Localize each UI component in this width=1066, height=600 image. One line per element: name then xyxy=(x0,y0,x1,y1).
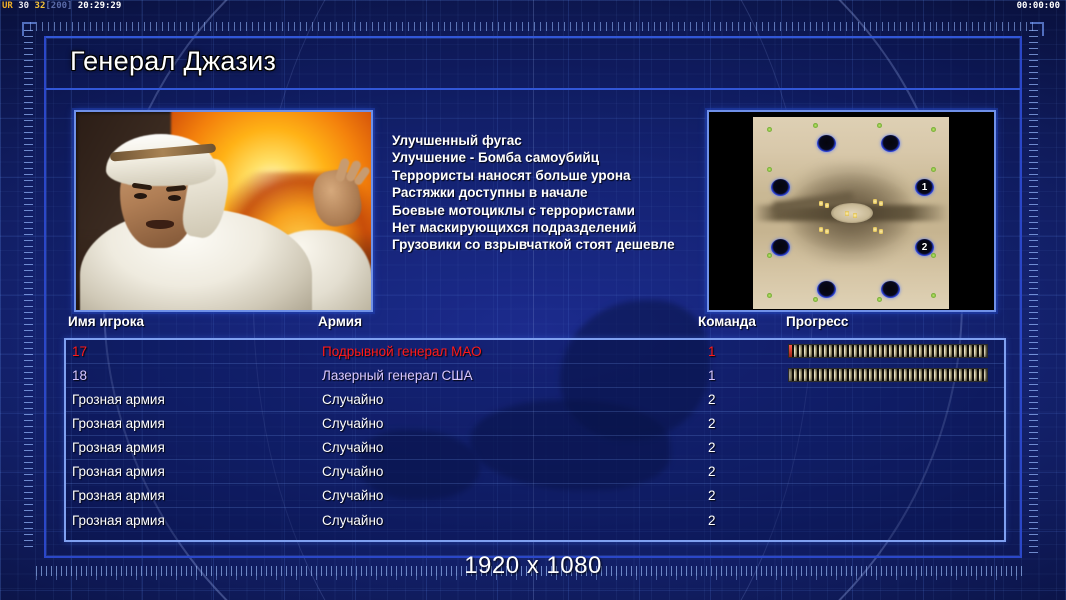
description-line: Улучшенный фугас xyxy=(392,132,722,149)
map-tech-building xyxy=(819,201,823,206)
table-row[interactable]: Грозная армияСлучайно2 xyxy=(66,484,1004,508)
player-table-header: Имя игрока Армия Команда Прогресс xyxy=(46,314,1024,336)
frame-corner-right xyxy=(1030,22,1044,36)
cell-army: Случайно xyxy=(322,488,383,503)
map-tech-building xyxy=(825,203,829,208)
game-menu-screen: UR 30 32[200] 20:29:29 00:00:00 Генерал … xyxy=(0,0,1066,600)
map-tech-building xyxy=(825,229,829,234)
cell-player-name: Грозная армия xyxy=(72,464,165,479)
cell-team: 2 xyxy=(708,440,716,455)
cell-team: 2 xyxy=(708,392,716,407)
progress-bar-fill xyxy=(789,369,987,381)
table-row[interactable]: 17Подрывной генерал МАО1 xyxy=(66,340,1004,364)
map-start-position[interactable] xyxy=(881,135,900,152)
cell-player-name: Грозная армия xyxy=(72,513,165,528)
map-start-position[interactable] xyxy=(817,281,836,298)
portrait-eye-right xyxy=(168,195,181,201)
cell-army: Случайно xyxy=(322,440,383,455)
cell-player-name: Грозная армия xyxy=(72,392,165,407)
main-panel: Генерал Джазиз xyxy=(44,36,1022,558)
cell-team: 2 xyxy=(708,488,716,503)
map-tech-building xyxy=(853,213,857,218)
description-line: Грузовики со взрывчаткой стоят дешевле xyxy=(392,236,722,253)
description-line: Террористы наносят больше урона xyxy=(392,167,722,184)
frame-ruler-top xyxy=(30,22,1036,31)
portrait-eye-left xyxy=(134,193,147,199)
map-start-position[interactable] xyxy=(881,281,900,298)
map-start-position-1[interactable]: 1 xyxy=(915,179,934,196)
cell-team: 1 xyxy=(708,344,716,359)
table-row[interactable]: Грозная армияСлучайно2 xyxy=(66,436,1004,460)
cell-army: Случайно xyxy=(322,513,383,528)
progress-bar xyxy=(788,368,988,382)
debug-fps: 30 xyxy=(18,1,29,11)
map-tech-building xyxy=(819,227,823,232)
map-start-position[interactable] xyxy=(771,239,790,256)
map-supply-dock xyxy=(931,127,936,132)
map-start-position[interactable] xyxy=(817,135,836,152)
general-description: Улучшенный фугас Улучшение - Бомба самоу… xyxy=(392,132,722,254)
debug-bracket: [200] xyxy=(45,1,72,11)
map-supply-dock xyxy=(877,123,882,128)
description-line: Боевые мотоциклы с террористами xyxy=(392,202,722,219)
map-supply-dock xyxy=(767,127,772,132)
map-supply-dock xyxy=(767,167,772,172)
progress-bar xyxy=(788,344,988,358)
cell-player-name: 18 xyxy=(72,368,87,383)
map-supply-dock xyxy=(767,253,772,258)
cell-player-name: Грозная армия xyxy=(72,416,165,431)
progress-bar-fill xyxy=(789,345,987,357)
page-title: Генерал Джазиз xyxy=(70,46,276,77)
map-tech-building xyxy=(873,199,877,204)
cell-army: Случайно xyxy=(322,392,383,407)
map-supply-dock xyxy=(877,297,882,302)
column-header-progress: Прогресс xyxy=(786,314,848,329)
progress-bar-marker xyxy=(789,345,792,357)
map-supply-dock xyxy=(931,167,936,172)
cell-army: Случайно xyxy=(322,464,383,479)
map-terrain: 12 xyxy=(753,117,949,309)
cell-team: 2 xyxy=(708,513,716,528)
resolution-label: 1920 x 1080 xyxy=(0,552,1066,580)
title-bar: Генерал Джазиз xyxy=(46,38,1020,90)
cell-army: Лазерный генерал США xyxy=(322,368,473,383)
frame-ruler-left xyxy=(24,30,33,550)
table-row[interactable]: Грозная армияСлучайно2 xyxy=(66,508,1004,532)
map-tech-building xyxy=(873,227,877,232)
cell-team: 2 xyxy=(708,464,716,479)
description-line: Растяжки доступны в начале xyxy=(392,184,722,201)
map-start-position[interactable] xyxy=(771,179,790,196)
player-table: 17Подрывной генерал МАО118Лазерный генер… xyxy=(64,338,1006,542)
table-row[interactable]: Грозная армияСлучайно2 xyxy=(66,412,1004,436)
debug-fps-alt: 32 xyxy=(35,1,46,11)
debug-overlay-right: 00:00:00 xyxy=(1017,1,1060,11)
cell-team: 2 xyxy=(708,416,716,431)
debug-clock: 20:29:29 xyxy=(78,1,121,11)
cell-player-name: Грозная армия xyxy=(72,488,165,503)
table-row[interactable]: 18Лазерный генерал США1 xyxy=(66,364,1004,388)
table-row[interactable]: Грозная армияСлучайно2 xyxy=(66,388,1004,412)
general-portrait xyxy=(74,110,373,312)
description-line: Нет маскирующихся подразделений xyxy=(392,219,722,236)
title-rule-top xyxy=(46,36,1020,38)
cell-player-name: 17 xyxy=(72,344,87,359)
top-content-row: Улучшенный фугас Улучшение - Бомба самоу… xyxy=(46,94,1024,312)
map-tech-building xyxy=(879,201,883,206)
column-header-name: Имя игрока xyxy=(68,314,144,329)
map-tech-building xyxy=(845,211,849,216)
map-supply-dock xyxy=(931,293,936,298)
description-line: Улучшение - Бомба самоубийц xyxy=(392,149,722,166)
column-header-army: Армия xyxy=(318,314,362,329)
map-supply-dock xyxy=(767,293,772,298)
map-preview[interactable]: 12 xyxy=(707,110,996,312)
map-supply-dock xyxy=(813,123,818,128)
frame-corner-left xyxy=(22,22,36,36)
cell-army: Подрывной генерал МАО xyxy=(322,344,482,359)
column-header-team: Команда xyxy=(698,314,756,329)
map-center-oasis xyxy=(831,203,873,223)
cell-army: Случайно xyxy=(322,416,383,431)
map-supply-dock xyxy=(931,253,936,258)
cell-player-name: Грозная армия xyxy=(72,440,165,455)
map-tech-building xyxy=(879,229,883,234)
table-row[interactable]: Грозная армияСлучайно2 xyxy=(66,460,1004,484)
portrait-artwork xyxy=(76,112,371,310)
frame-ruler-right xyxy=(1029,30,1038,555)
debug-prefix: UR xyxy=(2,1,13,11)
portrait-mouth xyxy=(146,220,174,229)
debug-overlay-left: UR 30 32[200] 20:29:29 xyxy=(2,1,121,11)
cell-team: 1 xyxy=(708,368,716,383)
map-supply-dock xyxy=(813,297,818,302)
